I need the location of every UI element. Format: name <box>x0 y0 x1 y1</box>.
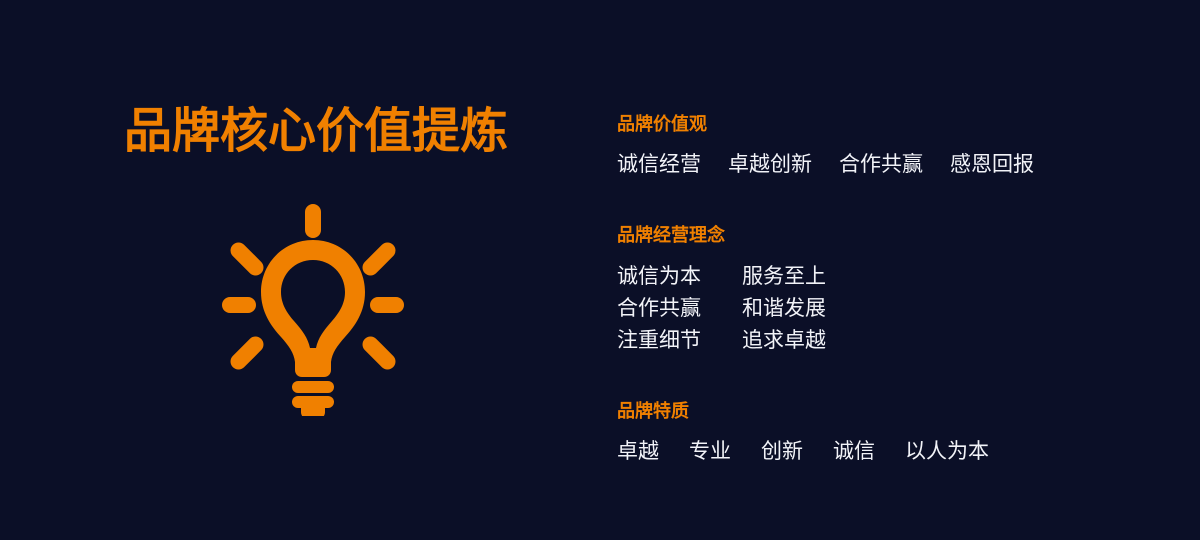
value-item: 诚信经营 <box>617 150 701 180</box>
left-panel: 品牌核心价值提炼 <box>0 0 580 540</box>
bulb-glass <box>261 240 365 377</box>
section-brand-philosophy: 品牌经营理念 诚信为本 服务至上 合作共赢 和谐发展 注重细节 追求卓越 <box>617 223 1177 357</box>
bulb-base-tip <box>301 408 325 416</box>
value-item: 合作共赢 <box>617 293 742 325</box>
page-title: 品牌核心价值提炼 <box>124 104 508 161</box>
ray-lower-right <box>359 333 399 373</box>
ray-right <box>370 297 404 313</box>
philosophy-row: 注重细节 追求卓越 <box>617 325 1177 357</box>
value-item: 和谐发展 <box>742 293 826 325</box>
value-item: 注重细节 <box>617 325 742 357</box>
value-item: 以人为本 <box>905 437 989 467</box>
section-brand-traits: 品牌特质 卓越 专业 创新 诚信 以人为本 <box>617 399 1177 467</box>
section-heading-traits: 品牌特质 <box>617 399 1177 423</box>
value-item: 合作共赢 <box>839 150 923 180</box>
value-item: 专业 <box>689 437 731 467</box>
value-item: 创新 <box>761 437 803 467</box>
values-item-list: 诚信经营 卓越创新 合作共赢 感恩回报 <box>617 150 1177 180</box>
bulb-base-band-1 <box>292 381 334 393</box>
ray-lower-left <box>227 333 267 373</box>
right-panel: 品牌价值观 诚信经营 卓越创新 合作共赢 感恩回报 品牌经营理念 诚信为本 服务… <box>617 0 1177 540</box>
ray-top <box>305 204 321 238</box>
value-item: 诚信为本 <box>617 261 742 293</box>
section-brand-values: 品牌价值观 诚信经营 卓越创新 合作共赢 感恩回报 <box>617 112 1177 180</box>
value-item: 追求卓越 <box>742 325 826 357</box>
value-item: 感恩回报 <box>950 150 1034 180</box>
philosophy-row: 合作共赢 和谐发展 <box>617 293 1177 325</box>
philosophy-item-list: 诚信为本 服务至上 合作共赢 和谐发展 注重细节 追求卓越 <box>617 261 1177 357</box>
lightbulb-icon <box>213 196 413 416</box>
ray-upper-left <box>227 239 267 279</box>
ray-upper-right <box>359 239 399 279</box>
value-item: 诚信 <box>833 437 875 467</box>
ray-left <box>222 297 256 313</box>
value-item: 卓越 <box>617 437 659 467</box>
section-heading-values: 品牌价值观 <box>617 112 1177 136</box>
philosophy-row: 诚信为本 服务至上 <box>617 261 1177 293</box>
traits-item-list: 卓越 专业 创新 诚信 以人为本 <box>617 437 1177 467</box>
value-item: 卓越创新 <box>728 150 812 180</box>
slide-canvas: 品牌核心价值提炼 <box>0 0 1200 540</box>
bulb-base-band-2 <box>292 396 334 408</box>
section-heading-philosophy: 品牌经营理念 <box>617 223 1177 247</box>
value-item: 服务至上 <box>742 261 826 293</box>
